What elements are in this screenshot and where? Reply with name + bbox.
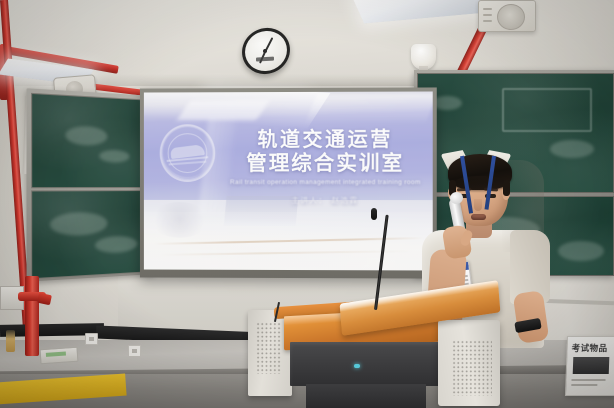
lectern-speaker-grille-left [256, 322, 282, 374]
projection-screen-surface: 轨道交通运营 管理综合实训室 Rail transit operation ma… [144, 91, 433, 270]
lectern-front-panel [290, 342, 442, 386]
exam-notice-poster: 考试物品 [565, 336, 614, 396]
slide-university-emblem-icon [160, 124, 216, 182]
screen-glare-reflection [144, 91, 331, 128]
classroom-scene-image: 轨道交通运营 管理综合实训室 Rail transit operation ma… [0, 0, 614, 408]
floor-package [40, 347, 79, 365]
wall-speaker-right [478, 0, 536, 32]
blackboard-panel-lower [31, 190, 152, 279]
speaker-cone-icon [497, 4, 525, 30]
poster-image [573, 357, 610, 374]
clock-brand-mark [256, 57, 274, 62]
presenter-nose [474, 199, 482, 211]
presenter-sideburn-right [503, 180, 510, 196]
slide-text-block: 轨道交通运营 管理综合实训室 Rail transit operation ma… [225, 128, 425, 206]
lectern-speaker-grille-right [452, 340, 492, 396]
slide-presenter-line: 主讲人： 赵浩霖 [225, 195, 425, 206]
slide-subtitle-english: Rail transit operation management integr… [225, 179, 425, 186]
presenter-mouth [471, 214, 486, 220]
gooseneck-microphone-head [371, 208, 377, 220]
screen-glare-reflection [305, 93, 433, 123]
blackboard-panel-upper [31, 93, 152, 188]
slide-title-line-2: 管理综合实训室 [225, 152, 425, 175]
slide-background-photo [144, 200, 433, 271]
floor-bottle [6, 330, 15, 352]
slide-title-line-1: 轨道交通运营 [225, 128, 425, 151]
wall-outlet [128, 345, 141, 357]
wall-outlet [85, 333, 98, 345]
screen-glare-reflection [177, 100, 270, 120]
lectern-base [306, 384, 426, 408]
multimedia-lectern [248, 296, 536, 408]
clock-center-pin [263, 49, 267, 53]
chalk-drawn-rectangle [502, 88, 592, 132]
poster-title: 考试物品 [571, 342, 607, 354]
fire-standpipe [25, 276, 39, 356]
left-sliding-blackboard [27, 88, 154, 281]
lectern-status-indicator [354, 364, 360, 368]
projection-screen: 轨道交通运营 管理综合实训室 Rail transit operation ma… [140, 87, 437, 278]
